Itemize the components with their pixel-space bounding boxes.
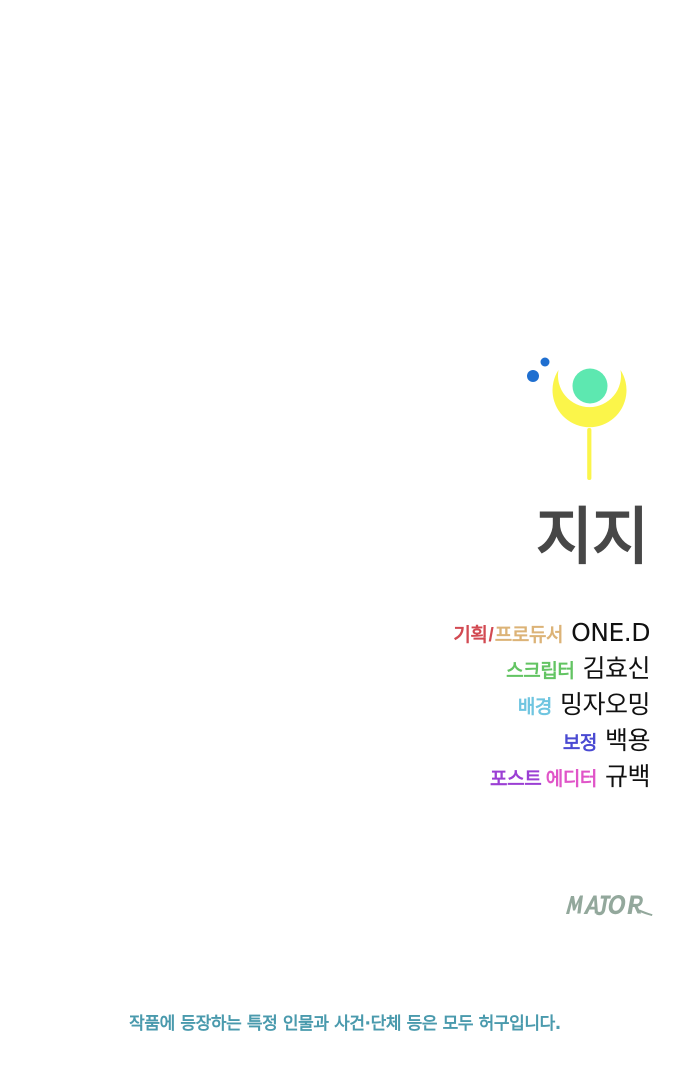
- credits-list: 기획/프로듀서ONE.D 스크립터김효신 배경밍자오밍 보정백용 포스트 에디터…: [30, 620, 650, 800]
- credit-role-label: 보정: [563, 732, 597, 754]
- accent-dot-small-icon: [541, 358, 550, 367]
- credit-row: 배경밍자오밍: [30, 692, 650, 717]
- comic-credits-page: 지지 기획/프로듀서ONE.D 스크립터김효신 배경밍자오밍 보정백용 포스트 …: [0, 0, 690, 1080]
- credit-name: 김효신: [582, 654, 650, 683]
- credit-name: 규백: [605, 762, 650, 791]
- credit-name: ONE.D: [571, 618, 650, 647]
- flower-emblem-graphic: [524, 350, 654, 485]
- page-title: 지지: [48, 506, 648, 568]
- credit-role-label: 포스트: [490, 768, 541, 790]
- credit-row: 포스트 에디터규백: [30, 764, 650, 789]
- credit-row: 보정백용: [30, 728, 650, 753]
- accent-dot-large-icon: [527, 370, 539, 382]
- major-wordmark-icon: [563, 890, 655, 922]
- credit-role-separator: /: [488, 625, 495, 646]
- credit-role-label: 배경: [518, 696, 552, 718]
- credit-role-secondary-label: 프로듀서: [495, 624, 563, 646]
- disclaimer-text: 작품에 등장하는 특정 인물과 사건·단체 등은 모두 허구입니다.: [0, 1009, 690, 1034]
- credit-role-secondary-label: 에디터: [546, 768, 597, 790]
- credit-row: 스크립터김효신: [30, 656, 650, 681]
- credit-role-label: 스크립터: [506, 660, 574, 682]
- flower-emblem: [524, 350, 654, 485]
- studio-logo: [563, 890, 655, 922]
- center-circle-shape: [573, 369, 608, 404]
- credit-name: 밍자오밍: [560, 690, 650, 719]
- credit-row: 기획/프로듀서ONE.D: [30, 620, 650, 645]
- credit-role-label: 기획: [453, 624, 487, 646]
- stem-shape: [587, 428, 591, 480]
- credit-name: 백용: [605, 726, 650, 755]
